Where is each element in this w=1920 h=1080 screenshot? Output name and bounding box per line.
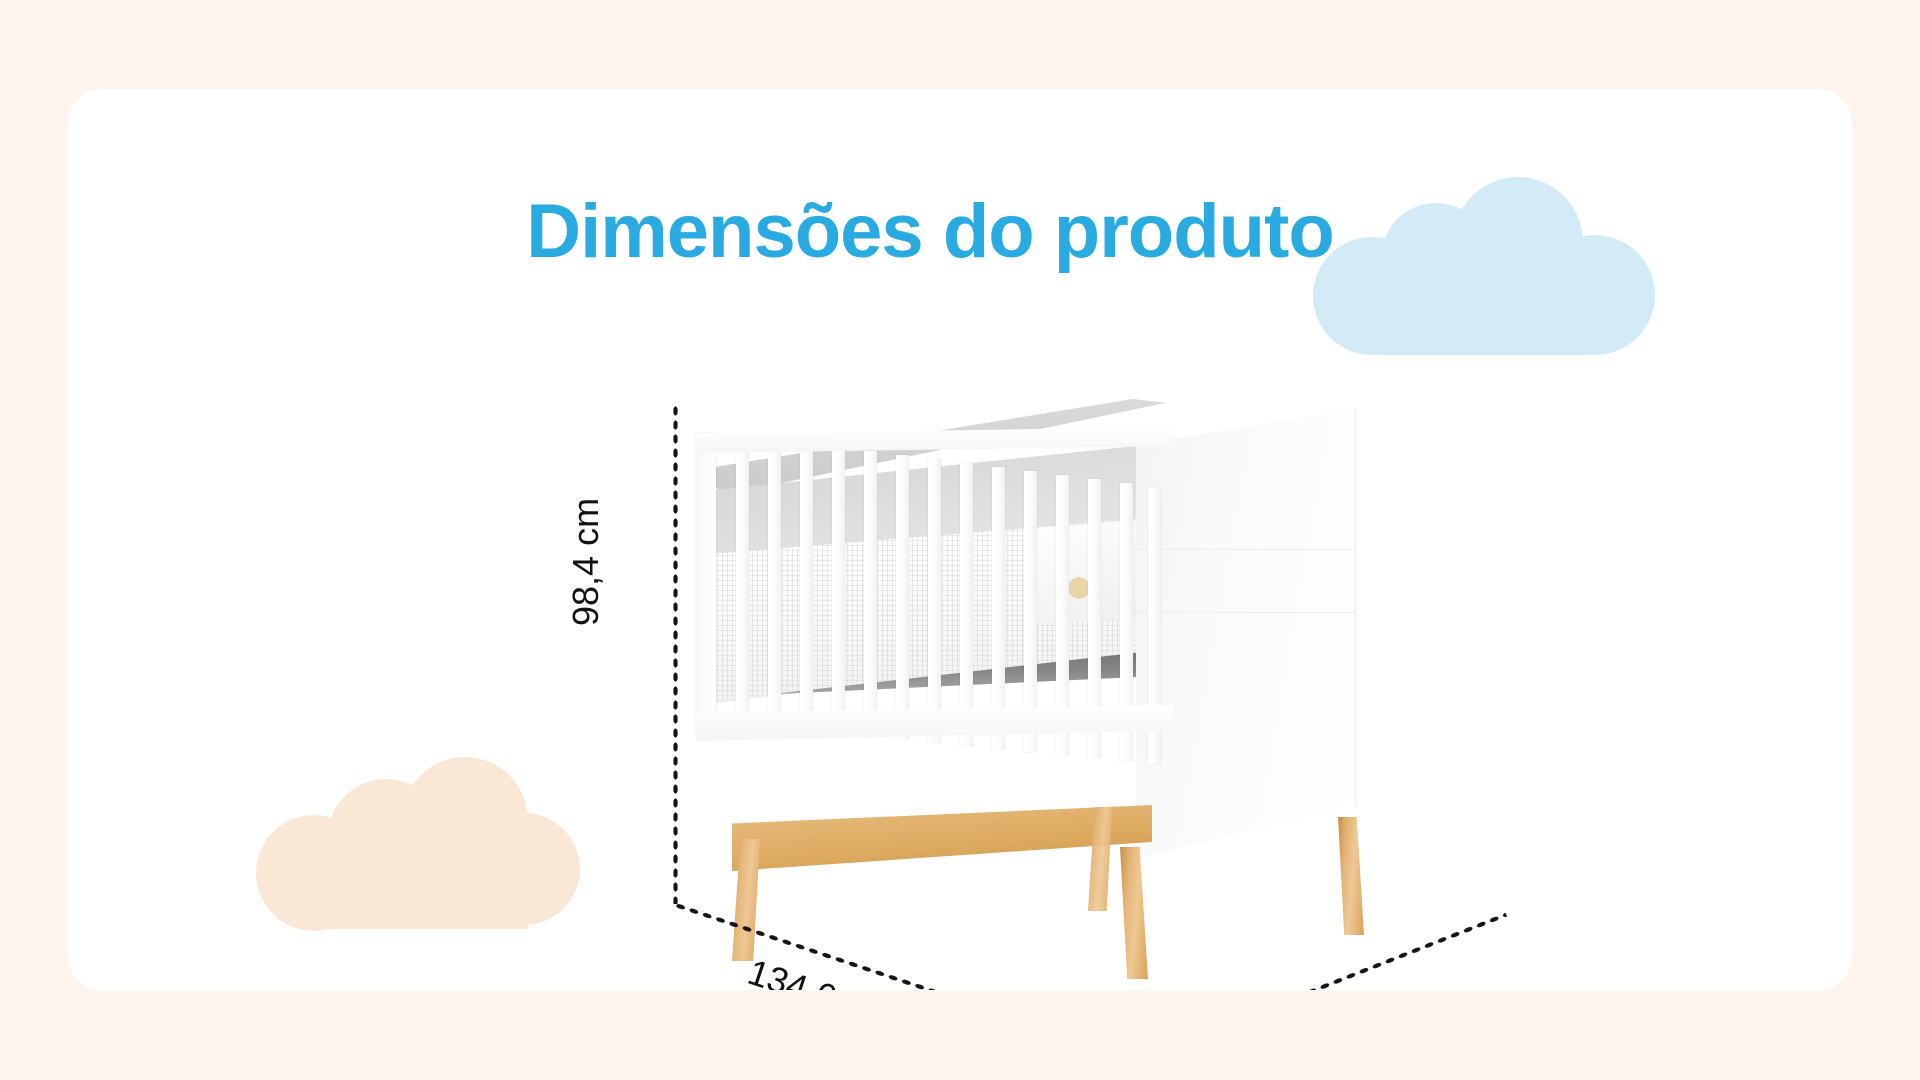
crib-slat — [896, 455, 909, 740]
dimension-line-height — [672, 404, 679, 904]
crib-wood-apron — [732, 805, 1152, 871]
crib-slat — [832, 447, 845, 734]
product-dimensions-card: Dimensões do produto — [68, 89, 1852, 990]
cloud-base — [1369, 272, 1599, 355]
crib-front-side — [696, 427, 1174, 757]
crib-top-rail — [696, 427, 1174, 453]
crib-leg-back-right — [1338, 817, 1364, 935]
dimension-label-depth: 76,8 cm — [1195, 980, 1330, 990]
product-image-crib — [696, 399, 1406, 909]
crib-slat — [800, 443, 813, 731]
cloud-base — [314, 851, 528, 929]
crib-slat — [928, 459, 941, 743]
crib-slat — [992, 467, 1005, 749]
crib-slat — [768, 439, 781, 728]
dimension-label-height: 98,4 cm — [565, 498, 607, 626]
crib-slat — [960, 463, 973, 746]
cloud-top-right-overflow — [1852, 88, 1920, 263]
cloud-overflow-inner — [188, 990, 510, 1080]
crib-slat — [864, 451, 877, 737]
page-title: Dimensões do produto — [68, 194, 1852, 270]
cloud-bottom-left-icon — [256, 757, 578, 929]
crib-slat — [736, 435, 749, 725]
dimension-line-depth — [1135, 911, 1508, 990]
crib-leg-front-right — [1120, 847, 1148, 979]
cloud-bottom-left-overflow — [188, 990, 510, 1080]
crib-corner-post — [696, 433, 716, 733]
